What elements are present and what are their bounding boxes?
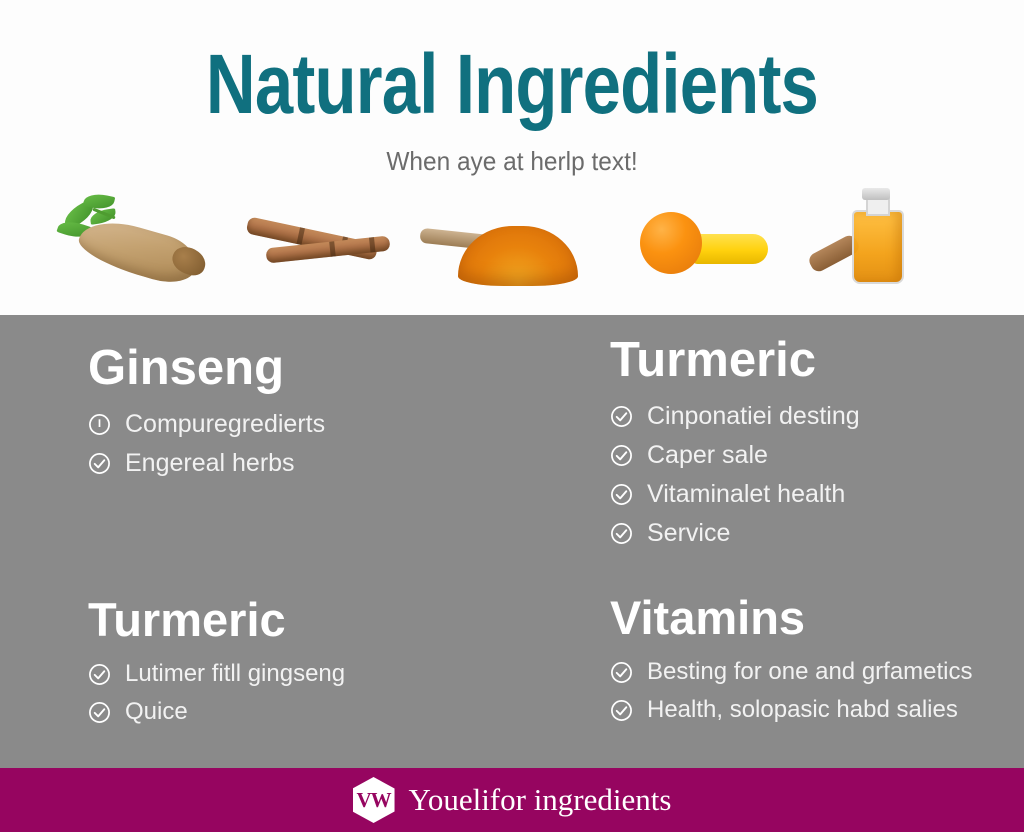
- list-item-label: Caper sale: [647, 441, 768, 470]
- list-item: Caper sale: [610, 441, 1024, 470]
- bullet-list: Cinponatiei desting Caper sale Vitaminal…: [610, 402, 1024, 548]
- dropper-bulb-shape: [640, 212, 702, 274]
- bottle-body-shape: [852, 210, 904, 284]
- circle-check-icon: [610, 661, 633, 684]
- cinnamon-sticks-image: [240, 186, 410, 301]
- footer-bar: VW Youelifor ingredients: [0, 768, 1024, 832]
- list-item-label: Compuregredierts: [125, 410, 325, 439]
- list-item-label: Besting for one and grfametics: [647, 658, 973, 686]
- circle-check-icon: [610, 444, 633, 467]
- circle-check-icon: [610, 483, 633, 506]
- dropper-tube-shape: [692, 234, 768, 264]
- logo-monogram: VW: [356, 788, 390, 813]
- list-item: Compuregredierts: [88, 410, 518, 439]
- list-item-label: Engereal herbs: [125, 449, 295, 478]
- list-item: Vitaminalet health: [610, 480, 1024, 509]
- turmeric-powder-image: [428, 186, 598, 301]
- circle-check-icon: [88, 663, 111, 686]
- ingredient-image-strip: [0, 186, 1024, 301]
- section-title: Ginseng: [88, 343, 518, 394]
- list-item: Lutimer fitll gingseng: [88, 660, 518, 688]
- section-title: Vitamins: [610, 593, 1024, 642]
- circle-check-icon: [610, 699, 633, 722]
- list-item: Engereal herbs: [88, 449, 518, 478]
- circle-check-icon: [610, 522, 633, 545]
- list-item: Service: [610, 519, 1024, 548]
- page-title: Natural Ingredients: [92, 42, 932, 126]
- header-section: Natural Ingredients When aye at herlp te…: [0, 0, 1024, 315]
- list-item-label: Service: [647, 519, 730, 548]
- list-item: Cinponatiei desting: [610, 402, 1024, 431]
- bullet-list: Compuregredierts Engereal herbs: [88, 410, 518, 478]
- bullet-list: Besting for one and grfametics Health, s…: [610, 658, 1024, 724]
- bullet-list: Lutimer fitll gingseng Quice: [88, 660, 518, 726]
- list-item-label: Quice: [125, 698, 188, 726]
- bottle-cap-shape: [862, 188, 890, 200]
- page-subtitle: When aye at herlp text!: [31, 146, 994, 177]
- content-column-turmeric-top: Turmeric Cinponatiei desting Caper sale: [610, 335, 1024, 558]
- infographic-poster: Natural Ingredients When aye at herlp te…: [0, 0, 1024, 832]
- content-column-ginseng: Ginseng Compuregredierts Engereal herbs: [88, 343, 518, 488]
- circle-check-icon: [610, 405, 633, 428]
- list-item: Quice: [88, 698, 518, 726]
- brand-name: Youelifor ingredients: [409, 782, 672, 818]
- circle-check-icon: [88, 452, 111, 475]
- list-item: Health, solopasic habd salies: [610, 696, 1024, 724]
- content-column-turmeric-bottom: Turmeric Lutimer fitll gingseng Quice: [88, 595, 518, 736]
- list-item-label: Health, solopasic habd salies: [647, 696, 958, 724]
- ginseng-root-image: [40, 186, 210, 301]
- content-panel: Ginseng Compuregredierts Engereal herbs: [0, 315, 1024, 768]
- oil-bottle-image: [790, 186, 960, 301]
- section-title: Turmeric: [88, 595, 518, 644]
- hexagon-logo-icon: VW: [353, 777, 395, 823]
- circle-info-icon: [88, 413, 111, 436]
- list-item-label: Lutimer fitll gingseng: [125, 660, 345, 688]
- list-item-label: Vitaminalet health: [647, 480, 845, 509]
- dropper-image: [618, 186, 788, 301]
- list-item: Besting for one and grfametics: [610, 658, 1024, 686]
- list-item-label: Cinponatiei desting: [647, 402, 860, 431]
- circle-check-icon: [88, 701, 111, 724]
- section-title: Turmeric: [610, 335, 1024, 386]
- content-column-vitamins: Vitamins Besting for one and grfametics …: [610, 593, 1024, 734]
